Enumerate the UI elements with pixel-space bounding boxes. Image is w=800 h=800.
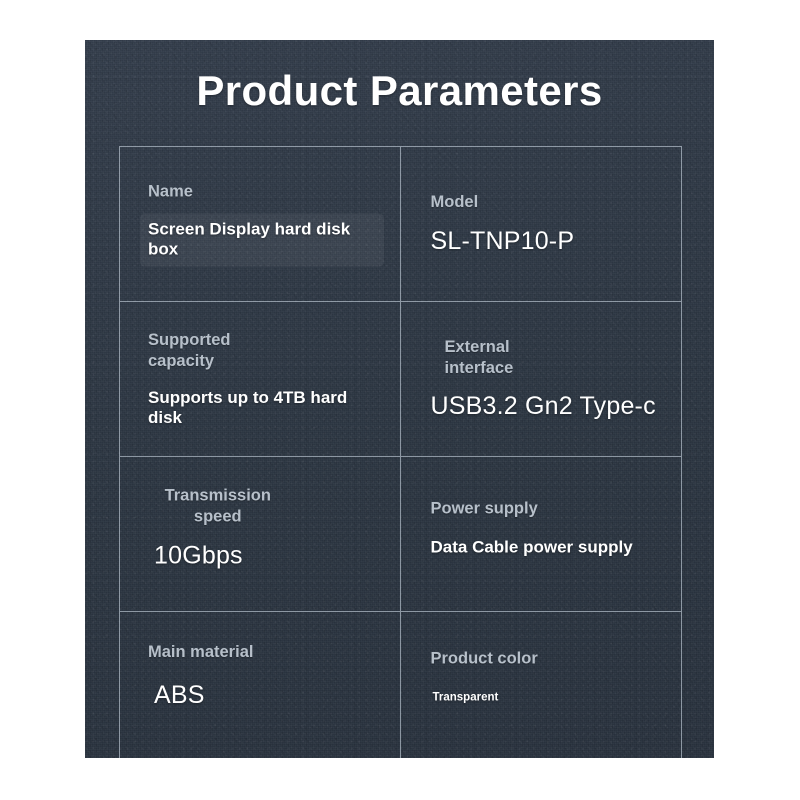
- param-value-name: Screen Display hard disk box: [140, 214, 384, 267]
- table-row: Name Screen Display hard disk box Model …: [120, 147, 681, 302]
- param-value-power-supply: Data Cable power supply: [431, 537, 666, 557]
- param-cell-power-supply: Power supply Data Cable power supply: [401, 457, 682, 611]
- param-label-transmission-speed: Transmission speed: [148, 485, 384, 527]
- param-label-name: Name: [148, 181, 384, 202]
- param-cell-external-interface: External interface USB3.2 Gn2 Type-c: [401, 302, 682, 456]
- param-value-external-interface: USB3.2 Gn2 Type-c: [431, 392, 666, 421]
- table-row: Main material ABS Product color Transpar…: [120, 612, 681, 758]
- table-row: Transmission speed 10Gbps Power supply D…: [120, 457, 681, 612]
- param-value-supported-capacity: Supports up to 4TB hard disk: [148, 388, 384, 428]
- param-label-external-interface: External interface: [431, 337, 666, 379]
- param-label-supported-capacity: Supported capacity: [148, 330, 384, 372]
- param-value-main-material: ABS: [148, 681, 384, 710]
- param-value-model: SL-TNP10-P: [431, 227, 666, 256]
- screenshot-canvas: Product Parameters Name Screen Display h…: [0, 0, 800, 800]
- param-value-product-color: Transparent: [431, 692, 666, 704]
- param-value-transmission-speed: 10Gbps: [148, 541, 384, 570]
- param-cell-transmission-speed: Transmission speed 10Gbps: [120, 457, 401, 611]
- parameters-table: Name Screen Display hard disk box Model …: [119, 146, 682, 758]
- param-cell-product-color: Product color Transparent: [401, 612, 682, 758]
- page-title: Product Parameters: [85, 67, 714, 115]
- table-row: Supported capacity Supports up to 4TB ha…: [120, 302, 681, 457]
- param-label-power-supply: Power supply: [431, 498, 666, 519]
- param-cell-name: Name Screen Display hard disk box: [120, 147, 401, 301]
- param-cell-model: Model SL-TNP10-P: [401, 147, 682, 301]
- param-label-main-material: Main material: [148, 642, 384, 663]
- param-cell-supported-capacity: Supported capacity Supports up to 4TB ha…: [120, 302, 401, 456]
- param-cell-main-material: Main material ABS: [120, 612, 401, 758]
- param-label-model: Model: [431, 192, 666, 213]
- product-parameters-panel: Product Parameters Name Screen Display h…: [85, 40, 714, 758]
- param-label-product-color: Product color: [431, 649, 666, 670]
